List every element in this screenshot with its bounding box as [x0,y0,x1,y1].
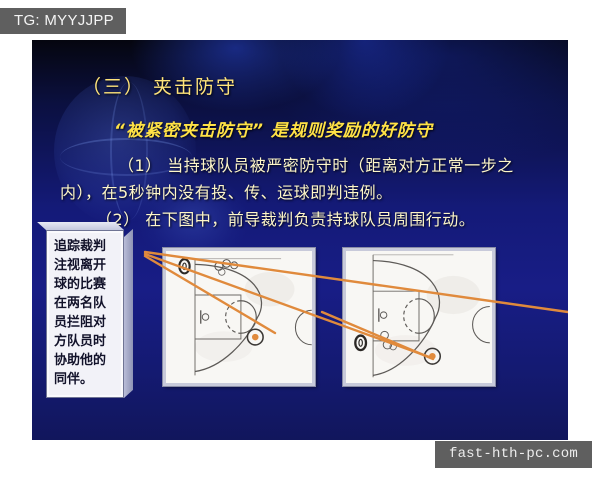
slide-subtitle: “被紧密夹击防守” 是规则奖励的好防守 [114,116,433,141]
court-diagram-left [163,248,315,386]
callout-box-top-face [37,222,124,230]
presentation-slide: （三） 夹击防守 “被紧密夹击防守” 是规则奖励的好防守 （1） 当持球队员被严… [32,40,568,440]
site-watermark: fast-hth-pc.com [435,441,592,468]
court-drawing-right [346,251,492,383]
court-drawing-left [166,251,312,383]
slide-heading: （三） 夹击防守 [82,72,237,99]
slide-paragraph-2: （2） 在下图中，前导裁判负责持球队员周围行动。 [60,206,550,233]
screenshot-canvas: （三） 夹击防守 “被紧密夹击防守” 是规则奖励的好防守 （1） 当持球队员被严… [0,0,600,480]
tg-tag-badge: TG: MYYJJPP [0,8,126,34]
callout-box-front-face: 追踪裁判注视离开球的比赛在两名队员拦阻对方队员时协助他的同伴。 [46,230,124,398]
slide-paragraph-1: （1） 当持球队员被严密防守时（距离对方正常一步之内），在5秒钟内没有投、传、运… [60,152,540,206]
callout-box: 追踪裁判注视离开球的比赛在两名队员拦阻对方队员时协助他的同伴。 [46,230,124,398]
callout-box-text: 追踪裁判注视离开球的比赛在两名队员拦阻对方队员时协助他的同伴。 [54,237,118,389]
callout-box-side-face [124,229,133,398]
court-diagram-right [343,248,495,386]
